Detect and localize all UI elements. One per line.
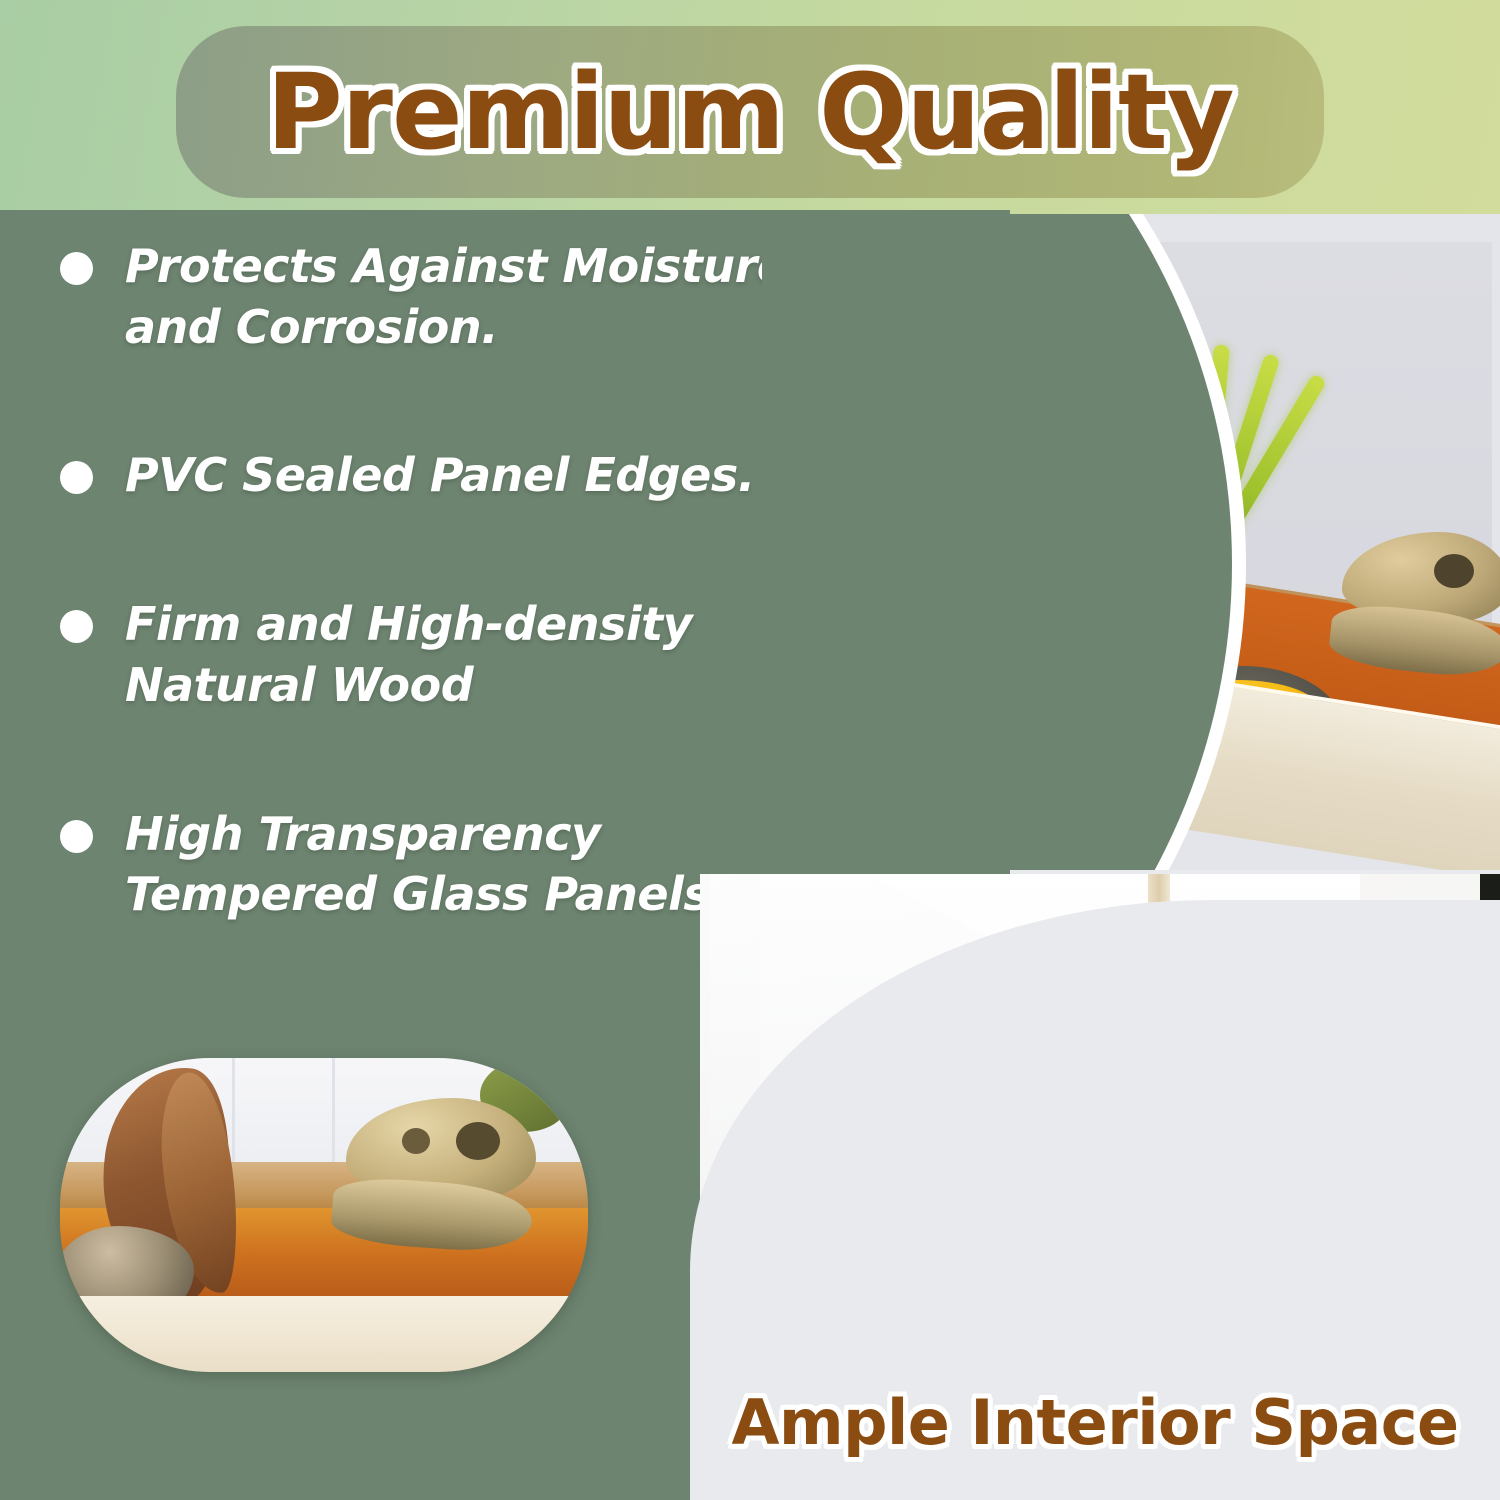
- filled-circle-bullet-icon: [60, 610, 93, 643]
- feature-label: Protects Against Moisture and Corrosion.: [125, 236, 860, 357]
- filled-circle-bullet-icon: [60, 252, 93, 285]
- wooden-reptile-terrarium-corner-photo: [762, 214, 1500, 870]
- infographic-page: Premium Quality Protects Against Moistur…: [0, 0, 1500, 1500]
- page-title: Premium Quality: [176, 30, 1324, 194]
- dinosaur-skull-decor: [336, 1098, 548, 1288]
- dinosaur-skull-decor: [1330, 532, 1500, 700]
- bottom-caption: Ample Interior Space: [690, 1374, 1500, 1470]
- terrarium-driftwood-skull-inset-photo: [60, 1058, 588, 1372]
- feature-label: PVC Sealed Panel Edges.: [125, 445, 755, 506]
- terrarium-wood-base: [60, 1296, 588, 1372]
- feature-item: Protects Against Moisture and Corrosion.: [60, 236, 860, 357]
- arched-photo-mask: [762, 214, 1232, 870]
- feature-item: Firm and High-density Natural Wood: [60, 594, 860, 715]
- feature-item: PVC Sealed Panel Edges.: [60, 445, 860, 506]
- filled-circle-bullet-icon: [60, 461, 93, 494]
- filled-circle-bullet-icon: [60, 820, 93, 853]
- feature-label: Firm and High-density Natural Wood: [125, 594, 860, 715]
